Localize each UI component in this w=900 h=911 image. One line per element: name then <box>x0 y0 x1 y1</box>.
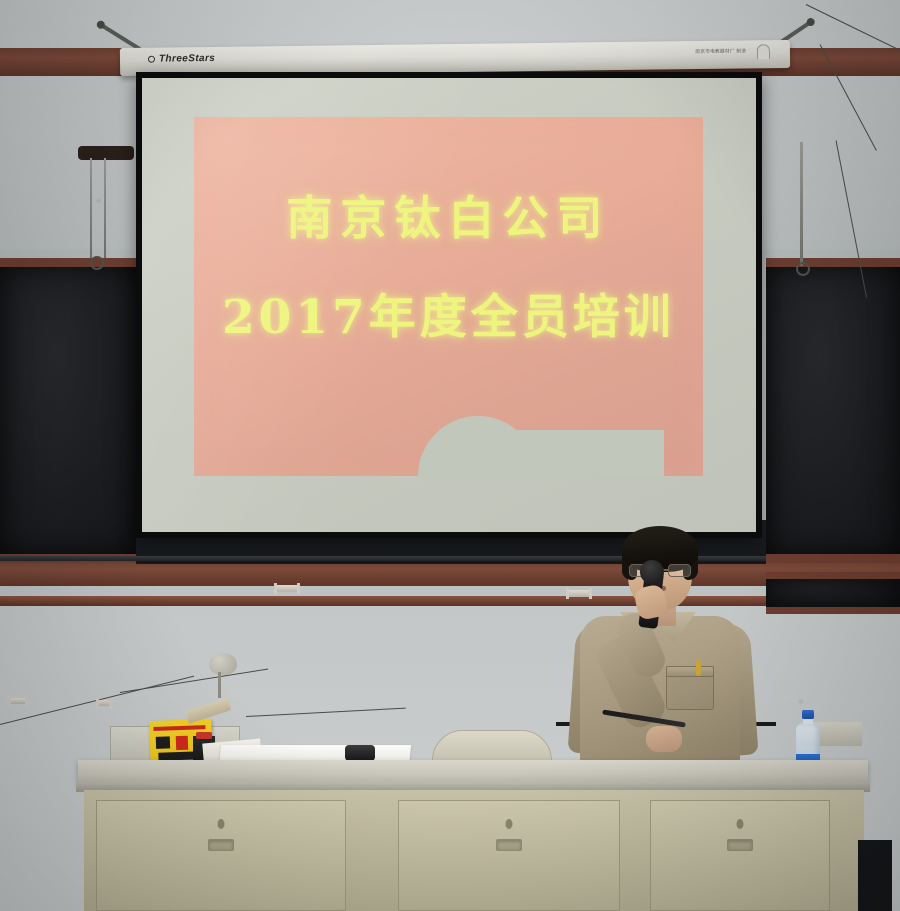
pull-handle-icon[interactable] <box>757 44 770 59</box>
keyhole-icon-2 <box>506 819 513 829</box>
pen-icon <box>696 660 701 676</box>
hanging-cord-left-a <box>90 158 92 258</box>
circle-logo-icon <box>148 56 155 63</box>
recessed-handle-icon-1[interactable] <box>208 839 234 851</box>
wall-bracket-icon-1 <box>274 585 300 592</box>
screen-brand-label: ThreeStars <box>148 53 215 65</box>
wall-bracket-icon-4 <box>96 700 112 706</box>
keyhole-icon-1 <box>218 819 225 829</box>
cabinet-gap-dark <box>858 840 892 911</box>
left-blackboard <box>0 258 136 563</box>
presenter-pocket-flap <box>666 666 714 677</box>
slide-title-line1: 南京钛白公司 <box>194 182 704 248</box>
list-item-beige-chair-back <box>432 730 552 763</box>
wall-ledge <box>0 596 900 606</box>
screen-manufacturer-label: 南京市电教器材厂 制造 <box>696 48 747 55</box>
cabinet-door-3[interactable] <box>650 800 830 911</box>
container-cap <box>196 732 212 739</box>
cabinet-door-1[interactable] <box>96 800 346 911</box>
presenter-resting-hand <box>646 726 682 752</box>
recessed-handle-icon-3[interactable] <box>727 839 753 851</box>
projected-slide: 南京钛白公司 2017年度全员培训 <box>194 117 704 476</box>
keyhole-icon-3 <box>737 819 744 829</box>
hanging-rod-right <box>800 142 803 266</box>
hanging-ring-icon-left <box>90 256 104 270</box>
hanging-ring-icon-right <box>796 262 810 276</box>
wall-fixture <box>209 653 237 675</box>
glasses-lens-right <box>668 564 691 577</box>
carton-mark-1 <box>156 736 170 748</box>
list-item-small-black-device[interactable] <box>345 745 375 761</box>
wall-bracket-icon-3 <box>8 698 28 704</box>
projection-screen: 南京钛白公司 2017年度全员培训 <box>136 72 762 538</box>
screen-surface: 南京钛白公司 2017年度全员培训 <box>142 78 756 532</box>
cabinet-door-2[interactable] <box>398 800 620 911</box>
recessed-handle-icon-2[interactable] <box>496 839 522 851</box>
classroom-photo: ThreeStars 南京市电教器材厂 制造 南京钛白公司 2017年度全员培训 <box>0 0 900 911</box>
right-blackboard-lower <box>766 572 900 614</box>
presenter-shoulder-shadow <box>504 430 664 478</box>
presenter <box>566 520 756 782</box>
right-blackboard <box>766 258 900 563</box>
carton-stripe-1 <box>153 725 205 731</box>
carton-mark-2 <box>176 736 188 750</box>
bottle-cap <box>802 710 814 719</box>
cord-anchor-left <box>78 146 134 160</box>
slide-title-line2: 2017年度全员培训 <box>194 278 704 347</box>
hanging-cord-left-b <box>104 158 106 258</box>
